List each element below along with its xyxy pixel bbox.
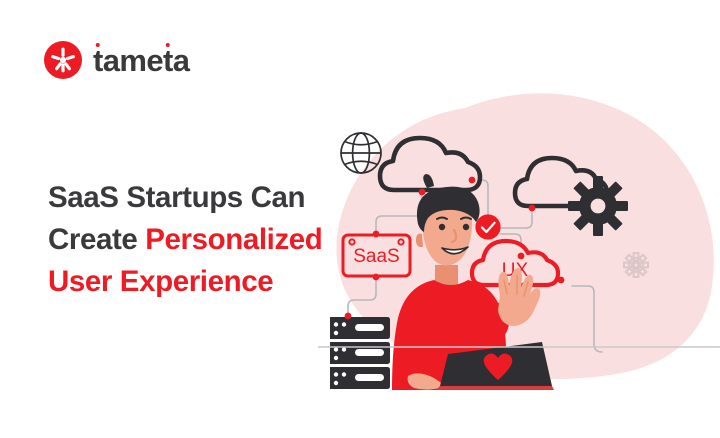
globe-icon (341, 133, 381, 173)
node-dot-ux-right (558, 277, 565, 284)
node-dot-right-cloud (529, 205, 536, 212)
brand-logo[interactable]: tameta (44, 41, 189, 79)
headline-line-2-accent: Personalized (145, 223, 322, 256)
wordmark-dot (166, 43, 171, 48)
server-rack-icon (330, 317, 390, 389)
gear-icon-large (568, 176, 628, 236)
tameta-asterisk-mark-icon (44, 41, 82, 79)
wordmark-dot (96, 43, 101, 48)
check-badge-icon (475, 214, 500, 239)
node-dot-left-cloud-right (469, 177, 476, 184)
node-dot-left-cloud (419, 189, 426, 196)
node-dot-saas-top (373, 231, 380, 238)
node-dot-saas-bottom (373, 274, 380, 281)
headline-line-2-dark: Create (48, 223, 145, 256)
saas-tag-label: SaaS (353, 246, 399, 267)
marketing-banner: tameta SaaS Startups Can Create Personal… (0, 0, 720, 438)
ground-line (318, 345, 720, 349)
brand-wordmark: tameta (93, 45, 189, 76)
brand-wordmark-text: tameta (93, 43, 189, 78)
node-dot-ux-top (518, 253, 525, 260)
node-dot-server (345, 313, 352, 320)
